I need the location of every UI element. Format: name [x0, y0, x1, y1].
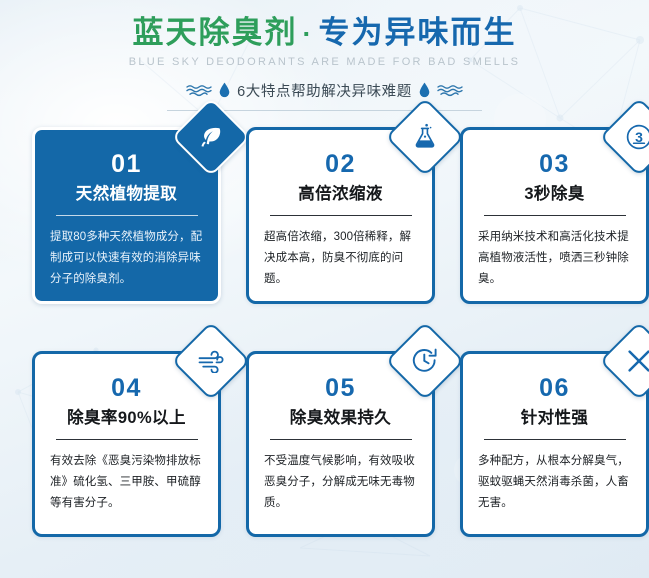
card-divider: [270, 439, 412, 440]
page-title: 蓝天除臭剂·专为异味而生: [0, 16, 649, 51]
card-title: 高倍浓缩液: [264, 185, 417, 204]
card-number: 04: [50, 376, 203, 401]
feature-card[interactable]: 05 除臭效果持久 不受温度气候影响，有效吸收恶臭分子，分解成无味无毒物质。: [246, 351, 435, 537]
card-description: 采用纳米技术和高活化技术提高植物液活性，喷洒三秒钟除臭。: [478, 227, 631, 290]
page-title-green-part: 蓝天除臭剂: [133, 15, 298, 50]
card-description: 有效去除《恶臭污染物排放标准》硫化氢、三甲胺、甲硫醇等有害分子。: [50, 451, 203, 514]
page-subtitle-chinese: 6大特点帮助解决异味难题: [237, 80, 412, 101]
card-description: 提取80多种天然植物成分，配制成可以快速有效的消除异味分子的除臭剂。: [50, 227, 203, 290]
page-subtitle-english: BLUE SKY DEODORANTS ARE MADE FOR BAD SME…: [0, 56, 649, 68]
card-description: 多种配方，从根本分解臭气，驱蚊驱蝇天然消毒杀菌，人畜无害。: [478, 451, 631, 514]
card-description: 不受温度气候影响，有效吸收恶臭分子，分解成无味无毒物质。: [264, 451, 417, 514]
card-divider: [56, 439, 198, 440]
card-title: 除臭率90%以上: [50, 409, 203, 428]
card-number: 01: [50, 152, 203, 177]
card-divider: [56, 215, 198, 216]
card-title: 针对性强: [478, 409, 631, 428]
card-number: 06: [478, 376, 631, 401]
feature-card[interactable]: 01 天然植物提取 提取80多种天然植物成分，配制成可以快速有效的消除异味分子的…: [32, 127, 221, 304]
wind-icon: [197, 349, 225, 373]
flask-icon: [412, 123, 438, 151]
page-title-blue-part: 专为异味而生: [319, 15, 517, 50]
card-title: 除臭效果持久: [264, 409, 417, 428]
wave-lines-icon: [437, 83, 463, 97]
feature-card[interactable]: 02 高倍浓缩液 超高倍浓缩，300倍稀释，解决成本高，防臭不彻底的问题。: [246, 127, 435, 304]
card-number: 02: [264, 152, 417, 177]
page-title-separator: ·: [298, 19, 319, 49]
card-title: 天然植物提取: [50, 185, 203, 204]
feature-card-grid: 01 天然植物提取 提取80多种天然植物成分，配制成可以快速有效的消除异味分子的…: [16, 127, 633, 537]
number-three-circle-icon: 3: [625, 123, 649, 151]
card-divider: [270, 215, 412, 216]
leaf-icon: [198, 124, 224, 150]
page-header: 蓝天除臭剂·专为异味而生 BLUE SKY DEODORANTS ARE MAD…: [0, 0, 649, 111]
card-number: 03: [478, 152, 631, 177]
page-subtitle-row: 6大特点帮助解决异味难题: [0, 80, 649, 101]
page-root: 蓝天除臭剂·专为异味而生 BLUE SKY DEODORANTS ARE MAD…: [0, 0, 649, 578]
card-divider: [484, 439, 626, 440]
feature-card[interactable]: 3 03 3秒除臭 采用纳米技术和高活化技术提高植物液活性，喷洒三秒钟除臭。: [460, 127, 649, 304]
water-drop-icon: [219, 82, 230, 98]
card-title: 3秒除臭: [478, 185, 631, 204]
card-number: 05: [264, 376, 417, 401]
water-drop-icon: [419, 82, 430, 98]
cross-target-icon: [625, 347, 649, 375]
wave-lines-icon: [186, 83, 212, 97]
card-divider: [484, 215, 626, 216]
feature-card[interactable]: 06 针对性强 多种配方，从根本分解臭气，驱蚊驱蝇天然消毒杀菌，人畜无害。: [460, 351, 649, 537]
feature-card[interactable]: 04 除臭率90%以上 有效去除《恶臭污染物排放标准》硫化氢、三甲胺、甲硫醇等有…: [32, 351, 221, 537]
card-description: 超高倍浓缩，300倍稀释，解决成本高，防臭不彻底的问题。: [264, 227, 417, 290]
clock-history-icon: [411, 347, 439, 375]
